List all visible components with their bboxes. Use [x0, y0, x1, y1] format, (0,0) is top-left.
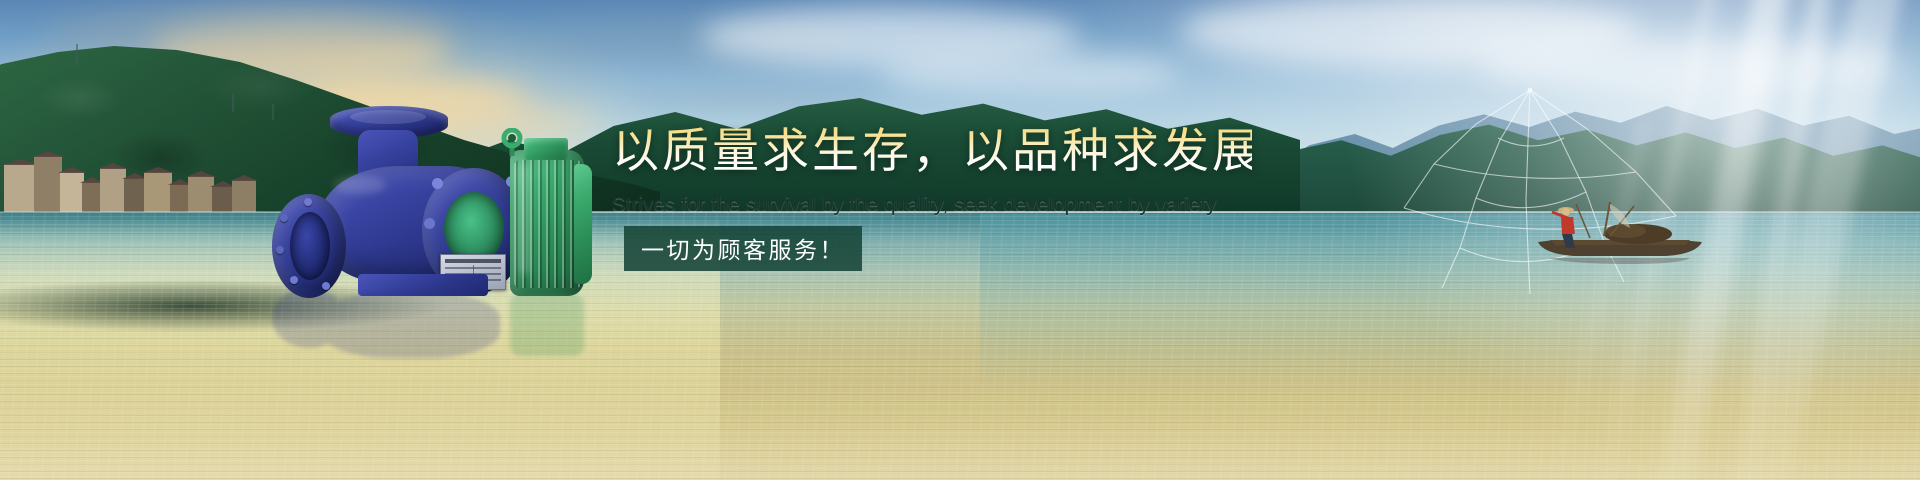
village-building [212, 186, 234, 212]
banner-subheadline: Strives for the survival by the quality,… [612, 193, 1252, 217]
banner-text-block: 以质量求生存，以品种求发展 Strives for the survival b… [612, 122, 1252, 271]
banner-headline: 以质量求生存，以品种求发展 [612, 122, 1252, 182]
flange-bolt [276, 246, 284, 254]
motor-specular-highlight [518, 164, 530, 274]
coupling-bolt [424, 218, 435, 229]
village-building [100, 168, 126, 212]
village-building [124, 178, 146, 212]
flange-bolt [304, 198, 312, 206]
pump-base-foot [358, 274, 488, 296]
banner-slogan-badge: 一切为顾客服务！ [624, 226, 862, 271]
hero-banner: 以质量求生存，以品种求发展 Strives for the survival b… [0, 0, 1920, 480]
centrifugal-pump-product [238, 106, 588, 296]
motor-terminal-box [524, 138, 568, 160]
pump-specular-highlight [334, 176, 386, 194]
village-building [4, 164, 38, 212]
flange-bolt [322, 282, 330, 290]
pump-suction-bore [290, 212, 330, 280]
flange-bolt [290, 276, 298, 284]
motor-end-cap [574, 164, 592, 284]
fisherman-boat [1530, 198, 1710, 268]
village-building [170, 184, 190, 212]
village-building [188, 176, 214, 212]
village-building [82, 182, 102, 212]
flange-bolt [280, 214, 288, 222]
motor-lifting-eye-icon [498, 128, 526, 158]
village-building [144, 172, 172, 212]
pump-flange-top-highlight [350, 110, 426, 124]
village-building [34, 156, 62, 212]
village-building [60, 172, 84, 212]
coupling-bolt [432, 178, 443, 189]
